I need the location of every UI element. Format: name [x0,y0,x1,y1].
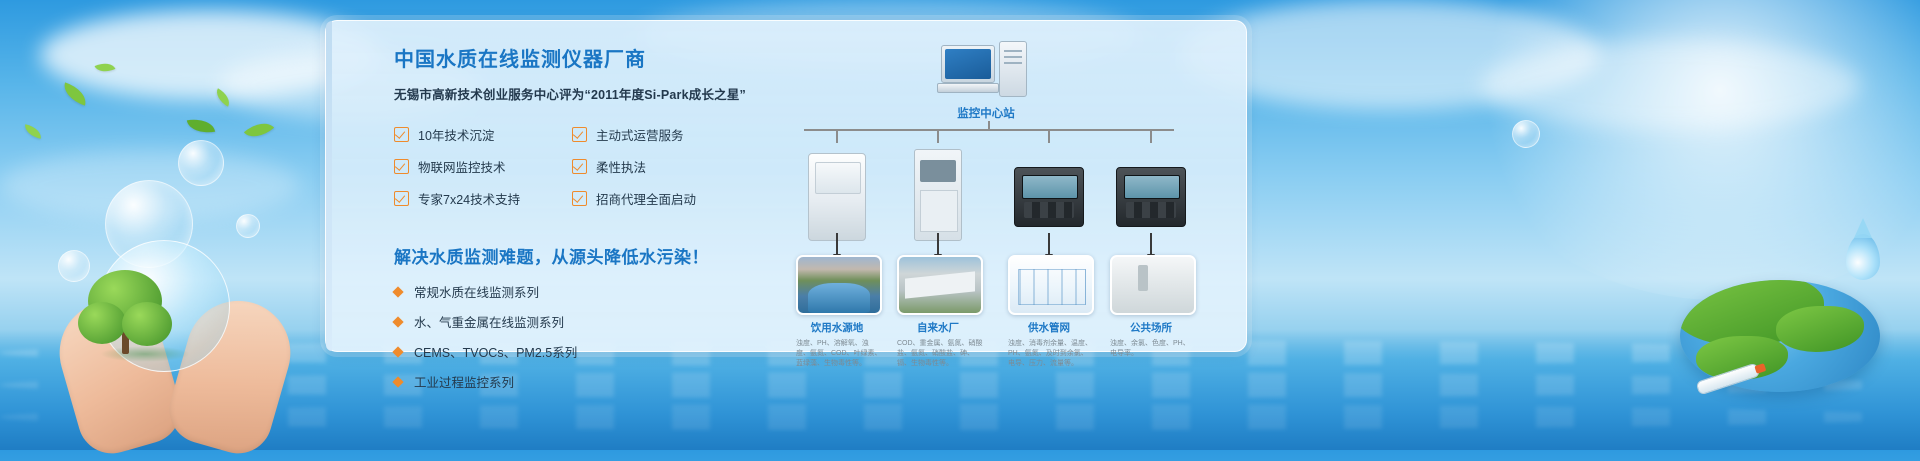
diamond-bullet-icon [392,286,403,297]
diagram-drop-line [1048,129,1050,143]
monitor-screen [945,49,991,79]
scene-card[interactable]: 自来水厂 COD、重金属、氨氮、硝酸盐、氨氮、硝酸盐、砷、镉、生物毒性等。 [897,255,979,369]
check-icon [394,191,409,206]
scene-description: 浊度、消毒剂余量、温度、PH、氨氮、及时到余氯、电导、压力、流量等。 [1008,339,1094,369]
controller-lcd [1124,175,1180,199]
scene-caption: 自来水厂 [897,320,979,335]
product-line-label: 水、气重金属在线监测系列 [414,312,564,331]
scene-card[interactable]: 供水管网 浊度、消毒剂余量、温度、PH、氨氮、及时到余氯、电导、压力、流量等。 [1008,255,1090,369]
product-line-label: 常规水质在线监测系列 [414,282,539,301]
scene-description: 浊度、PH、溶解氧、浊度、氨氮、COD、叶绿素、蓝绿藻、生物毒性等。 [796,339,882,369]
water-treatment-plant-photo [897,255,983,315]
list-item[interactable]: 工业过程监控系列 [394,372,754,391]
product-line-label: 工业过程监控系列 [414,372,514,391]
leaf-icon [187,116,215,136]
feature-label: 专家7x24技术支持 [418,189,520,208]
feature-label: 10年技术沉淀 [418,125,494,144]
feature-item[interactable]: 物联网监控技术 [394,157,572,176]
down-arrow-icon [937,233,939,255]
scene-description: COD、重金属、氨氮、硝酸盐、氨氮、硝酸盐、砷、镉、生物毒性等。 [897,339,983,369]
check-icon [572,127,587,142]
cabinet-analyzer-icon[interactable] [808,153,866,241]
feature-label: 物联网监控技术 [418,157,506,176]
bubble-icon [1512,120,1540,148]
list-item[interactable]: 常规水质在线监测系列 [394,282,754,301]
scene-caption: 饮用水源地 [796,320,878,335]
bubble-icon [178,140,224,186]
feature-check-list: 10年技术沉淀 主动式运营服务 物联网监控技术 柔性执法 专家7x24技术支持 … [394,125,754,221]
diamond-bullet-icon [392,346,403,357]
earth-globe-water-icon [1680,262,1890,392]
tree-crown [122,302,172,346]
controller-panel-icon[interactable] [1014,167,1084,227]
diagram-drop-line [937,129,939,143]
scene-card[interactable]: 饮用水源地 浊度、PH、溶解氧、浊度、氨氮、COD、叶绿素、蓝绿藻、生物毒性等。 [796,255,878,369]
controller-panel-icon[interactable] [1116,167,1186,227]
bubble-icon [236,214,260,238]
monitor-icon [941,45,995,83]
diamond-bullet-icon [392,376,403,387]
tree-shadow [100,346,190,362]
diamond-bullet-icon [392,316,403,327]
scene-caption: 公共场所 [1110,320,1192,335]
copy-column: 中国水质在线监测仪器厂商 无锡市高新技术创业服务中心评为“2011年度Si-Pa… [394,43,754,402]
feature-label: 主动式运营服务 [596,125,684,144]
computer-workstation-icon [941,41,1031,93]
feature-item[interactable]: 招商代理全面启动 [572,189,750,208]
page-title: 中国水质在线监测仪器厂商 [394,43,754,72]
main-panel: 中国水质在线监测仪器厂商 无锡市高新技术创业服务中心评为“2011年度Si-Pa… [325,20,1247,352]
diagram-drop-line [1150,129,1152,143]
tap-water-hand-photo [1110,255,1196,315]
pc-tower-icon [999,41,1027,97]
pipeline-diagram-photo [1008,255,1094,315]
product-line-list: 常规水质在线监测系列 水、气重金属在线监测系列 CEMS、TVOCs、PM2.5… [394,282,754,391]
down-arrow-icon [1150,233,1152,255]
feature-item[interactable]: 专家7x24技术支持 [394,189,572,208]
check-icon [572,191,587,206]
check-icon [572,159,587,174]
feature-item[interactable]: 10年技术沉淀 [394,125,572,144]
down-arrow-icon [836,233,838,255]
controller-lcd [1022,175,1078,199]
leaf-icon [244,116,274,145]
list-item[interactable]: 水、气重金属在线监测系列 [394,312,754,331]
check-icon [394,127,409,142]
earth-ball [1680,280,1880,392]
rack-analyzer-icon[interactable] [914,149,962,241]
feature-item[interactable]: 柔性执法 [572,157,750,176]
feature-label: 柔性执法 [596,157,646,176]
scene-card[interactable]: 公共场所 浊度、余氯、色度、PH、电导率。 [1110,255,1192,359]
earth-land [1776,306,1864,352]
feature-label: 招商代理全面启动 [596,189,696,208]
page-subtitle: 无锡市高新技术创业服务中心评为“2011年度Si-Park成长之星” [394,84,754,103]
list-item[interactable]: CEMS、TVOCs、PM2.5系列 [394,342,754,361]
device-row [756,143,1226,249]
product-line-label: CEMS、TVOCs、PM2.5系列 [414,342,577,361]
tree-crown [78,302,126,344]
section-title: 解决水质监测难题，从源头降低水污染！ [394,243,754,268]
keyboard-icon [937,83,999,93]
system-diagram: 监控中心站 饮用水源地 浊度、PH、溶解氧 [756,37,1226,347]
check-icon [394,159,409,174]
leaf-icon [23,124,43,139]
diagram-drop-line [836,129,838,143]
diagram-bus-line [804,129,1174,131]
center-station-label: 监控中心站 [916,105,1056,121]
cloud-decoration [1480,40,1860,130]
controller-buttons [1126,202,1176,218]
scene-description: 浊度、余氯、色度、PH、电导率。 [1110,339,1196,359]
controller-buttons [1024,202,1074,218]
panel-left-edge [326,21,332,351]
down-arrow-icon [1048,233,1050,255]
feature-item[interactable]: 主动式运营服务 [572,125,750,144]
river-landscape-photo [796,255,882,315]
hands-holding-tree-globe-icon [60,250,320,450]
scene-caption: 供水管网 [1008,320,1090,335]
